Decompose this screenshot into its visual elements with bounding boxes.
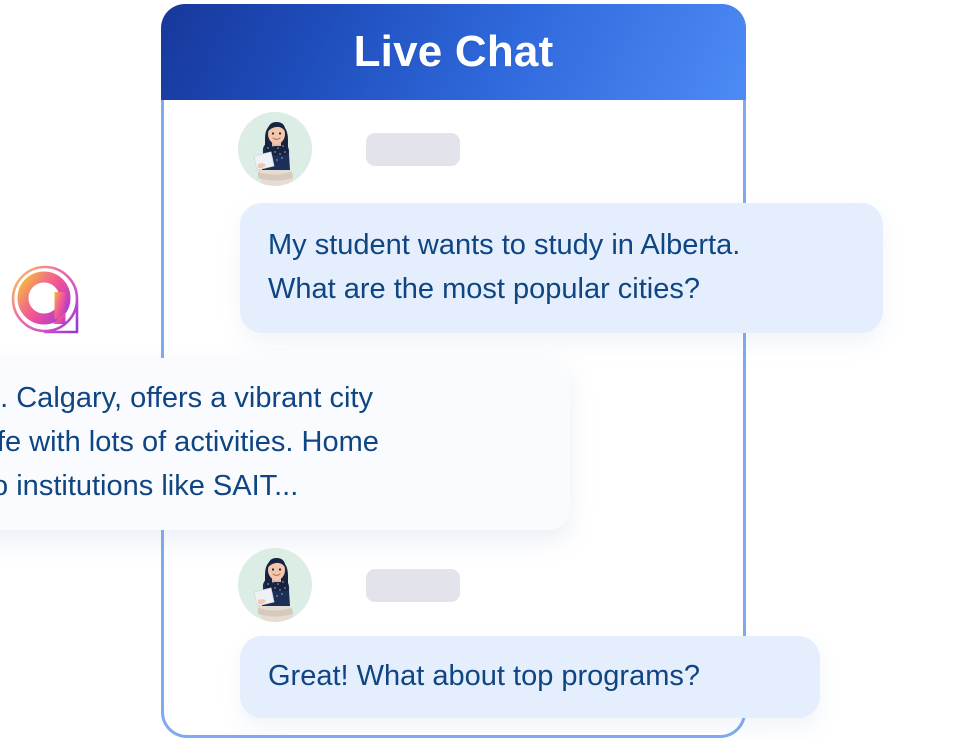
chat-window-header: Live Chat [161,4,746,100]
chat-window-title: Live Chat [354,30,554,74]
avatar [238,548,312,622]
brand-logo-icon [8,262,82,342]
avatar [238,112,312,186]
sender-name-placeholder [366,569,460,602]
message-sender-row [238,548,460,622]
sender-name-placeholder [366,133,460,166]
message-sender-row [238,112,460,186]
message-bubble-user-1: My student wants to study in Alberta. Wh… [240,203,883,333]
message-bubble-user-2: Great! What about top programs? [240,636,820,718]
message-bubble-bot-1: 1. Calgary, offers a vibrant city life w… [0,358,570,530]
